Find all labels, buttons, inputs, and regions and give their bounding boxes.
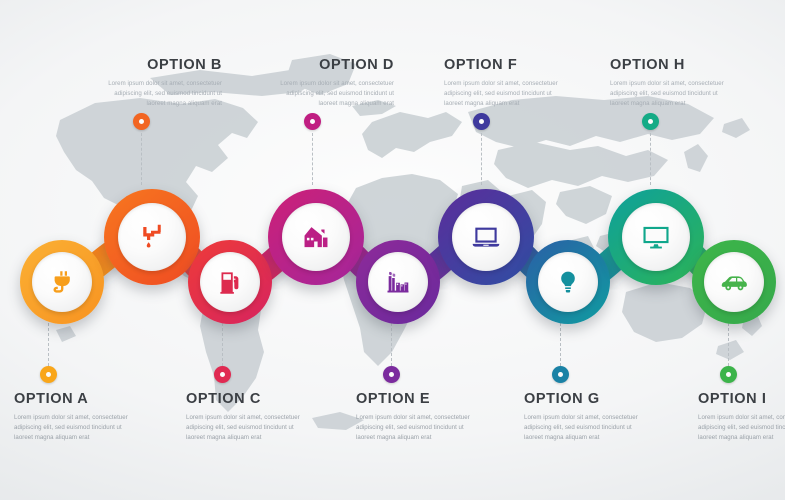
- node-option-g[interactable]: [526, 240, 610, 324]
- option-title-e: OPTION E: [356, 392, 474, 408]
- car-icon: [719, 267, 749, 297]
- marker-dot-i[interactable]: [720, 366, 737, 383]
- label-block-e: OPTION E Lorem ipsum dolor sit amet, con…: [356, 392, 474, 443]
- marker-dot-f[interactable]: [473, 113, 490, 130]
- label-block-a: OPTION A Lorem ipsum dolor sit amet, con…: [14, 392, 132, 443]
- node-option-c[interactable]: [188, 240, 272, 324]
- label-block-f: OPTION F Lorem ipsum dolor sit amet, con…: [444, 58, 562, 109]
- marker-dot-h[interactable]: [642, 113, 659, 130]
- option-body-h: Lorem ipsum dolor sit amet, consectetuer…: [610, 79, 728, 109]
- option-body-b: Lorem ipsum dolor sit amet, consectetuer…: [104, 79, 222, 109]
- fuel-pump-icon: [217, 269, 244, 296]
- stem-h: [650, 133, 651, 185]
- marker-dot-d[interactable]: [304, 113, 321, 130]
- stem-i: [728, 323, 729, 371]
- option-title-f: OPTION F: [444, 58, 562, 74]
- lightbulb-icon: [555, 269, 581, 295]
- option-body-g: Lorem ipsum dolor sit amet, consectetuer…: [524, 413, 642, 443]
- stem-e: [391, 323, 392, 371]
- node-option-e[interactable]: [356, 240, 440, 324]
- stem-c: [222, 323, 223, 371]
- monitor-icon: [640, 221, 672, 253]
- marker-dot-b[interactable]: [133, 113, 150, 130]
- stem-d: [312, 133, 313, 185]
- stem-b: [141, 133, 142, 185]
- option-body-e: Lorem ipsum dolor sit amet, consectetuer…: [356, 413, 474, 443]
- option-body-f: Lorem ipsum dolor sit amet, consectetuer…: [444, 79, 562, 109]
- marker-dot-e[interactable]: [383, 366, 400, 383]
- label-block-b: OPTION B Lorem ipsum dolor sit amet, con…: [104, 58, 222, 109]
- option-title-i: OPTION I: [698, 392, 785, 408]
- option-title-a: OPTION A: [14, 392, 132, 408]
- marker-dot-c[interactable]: [214, 366, 231, 383]
- node-option-a[interactable]: [20, 240, 104, 324]
- node-option-i[interactable]: [692, 240, 776, 324]
- marker-dot-g[interactable]: [552, 366, 569, 383]
- laptop-icon: [470, 221, 502, 253]
- option-title-c: OPTION C: [186, 392, 304, 408]
- infographic-canvas: OPTION B Lorem ipsum dolor sit amet, con…: [0, 0, 785, 500]
- label-block-h: OPTION H Lorem ipsum dolor sit amet, con…: [610, 58, 728, 109]
- label-block-c: OPTION C Lorem ipsum dolor sit amet, con…: [186, 392, 304, 443]
- option-body-i: Lorem ipsum dolor sit amet, consectetuer…: [698, 413, 785, 443]
- option-title-b: OPTION B: [104, 58, 222, 74]
- option-body-a: Lorem ipsum dolor sit amet, consectetuer…: [14, 413, 132, 443]
- node-option-h[interactable]: [608, 189, 704, 285]
- node-option-d[interactable]: [268, 189, 364, 285]
- factory-icon: [384, 268, 412, 296]
- node-option-f[interactable]: [438, 189, 534, 285]
- option-title-d: OPTION D: [276, 58, 394, 74]
- power-plug-icon: [49, 269, 76, 296]
- faucet-icon: [137, 222, 167, 252]
- label-block-g: OPTION G Lorem ipsum dolor sit amet, con…: [524, 392, 642, 443]
- label-block-d: OPTION D Lorem ipsum dolor sit amet, con…: [276, 58, 394, 109]
- option-title-g: OPTION G: [524, 392, 642, 408]
- stem-a: [48, 323, 49, 371]
- house-icon: [300, 221, 332, 253]
- option-body-d: Lorem ipsum dolor sit amet, consectetuer…: [276, 79, 394, 109]
- marker-dot-a[interactable]: [40, 366, 57, 383]
- stem-f: [481, 133, 482, 185]
- option-title-h: OPTION H: [610, 58, 728, 74]
- option-body-c: Lorem ipsum dolor sit amet, consectetuer…: [186, 413, 304, 443]
- stem-g: [560, 323, 561, 371]
- node-option-b[interactable]: [104, 189, 200, 285]
- label-block-i: OPTION I Lorem ipsum dolor sit amet, con…: [698, 392, 785, 443]
